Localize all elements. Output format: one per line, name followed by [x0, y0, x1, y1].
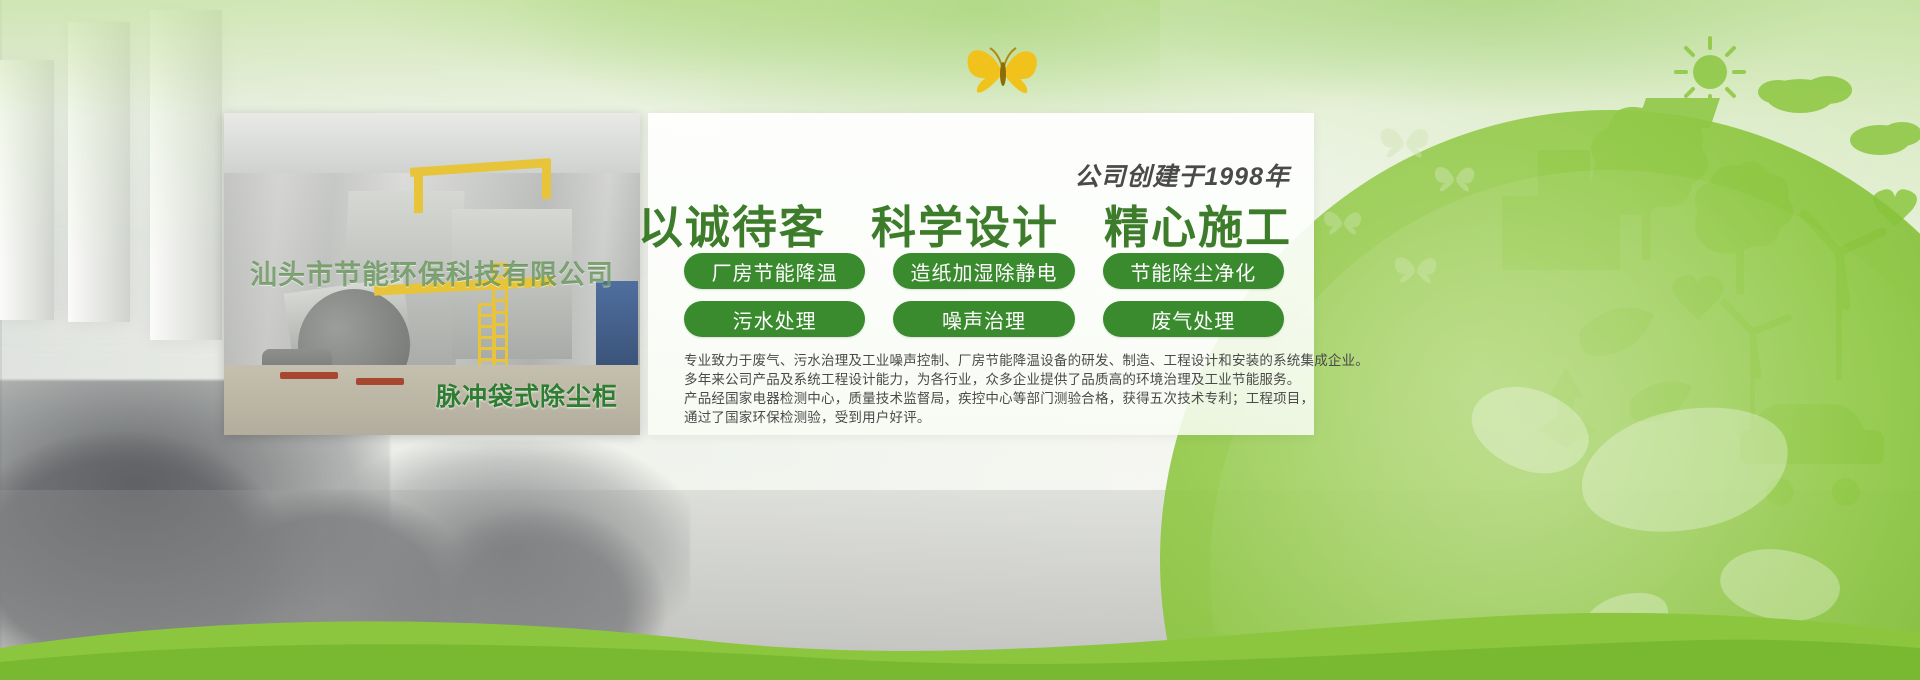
description-line: 专业致力于废气、污水治理及工业噪声控制、厂房节能降温设备的研发、制造、工程设计和…: [684, 351, 1306, 370]
photo-red-support: [356, 378, 404, 385]
company-description: 专业致力于废气、污水治理及工业噪声控制、厂房节能降温设备的研发、制造、工程设计和…: [684, 351, 1306, 427]
pale-butterfly-icon: [1390, 250, 1442, 292]
established-year-text: 公司创建于1998年: [1074, 157, 1290, 193]
service-pill-factory-cooling[interactable]: 厂房节能降温: [684, 253, 865, 289]
service-pill-sewage-treatment[interactable]: 污水处理: [684, 301, 865, 337]
service-pill-paper-humidify[interactable]: 造纸加湿除静电: [893, 253, 1074, 289]
company-watermark: 汕头市节能环保科技有限公司: [224, 253, 640, 292]
service-pill-grid: 厂房节能降温 造纸加湿除静电 节能除尘净化 污水处理 噪声治理 废气处理: [684, 253, 1284, 337]
pale-butterfly-icon: [1375, 120, 1435, 168]
pale-butterfly-icon: [1430, 160, 1480, 200]
yellow-butterfly-icon: [960, 38, 1046, 108]
service-pill-dust-purification[interactable]: 节能除尘净化: [1103, 253, 1284, 289]
photo-yellow-post: [414, 173, 423, 213]
description-line: 多年来公司产品及系统工程设计能力，为各行业，众多企业提供了品质高的环境治理及工业…: [684, 370, 1306, 389]
photo-red-support: [280, 372, 338, 379]
service-pill-noise-control[interactable]: 噪声治理: [893, 301, 1074, 337]
headline-part-2: 科学设计: [871, 202, 1059, 253]
main-headline: 以诚待客 科学设计 精心施工: [638, 191, 1292, 256]
headline-part-3: 精心施工: [1104, 202, 1292, 253]
grass-strip: [0, 596, 1920, 680]
photo-yellow-post: [542, 159, 551, 199]
promo-banner: 汕头市节能环保科技有限公司 脉冲袋式除尘柜 公司创建于1998年 以诚待客 科学…: [0, 0, 1920, 680]
pale-butterfly-icon: [1320, 205, 1366, 243]
photo-caption: 脉冲袋式除尘柜: [436, 377, 618, 413]
photo-sky-band: [224, 113, 640, 173]
content-panel: 公司创建于1998年 以诚待客 科学设计 精心施工 厂房节能降温 造纸加湿除静电…: [648, 113, 1314, 435]
product-photo-card: 汕头市节能环保科技有限公司 脉冲袋式除尘柜: [224, 113, 640, 435]
headline-part-1: 以诚待客: [638, 202, 826, 253]
service-pill-exhaust-gas[interactable]: 废气处理: [1103, 301, 1284, 337]
description-line: 通过了国家环保检测验，受到用户好评。: [684, 408, 1306, 427]
description-line: 产品经国家电器检测中心，质量技术监督局，疾控中心等部门测验合格，获得五次技术专利…: [684, 389, 1306, 408]
